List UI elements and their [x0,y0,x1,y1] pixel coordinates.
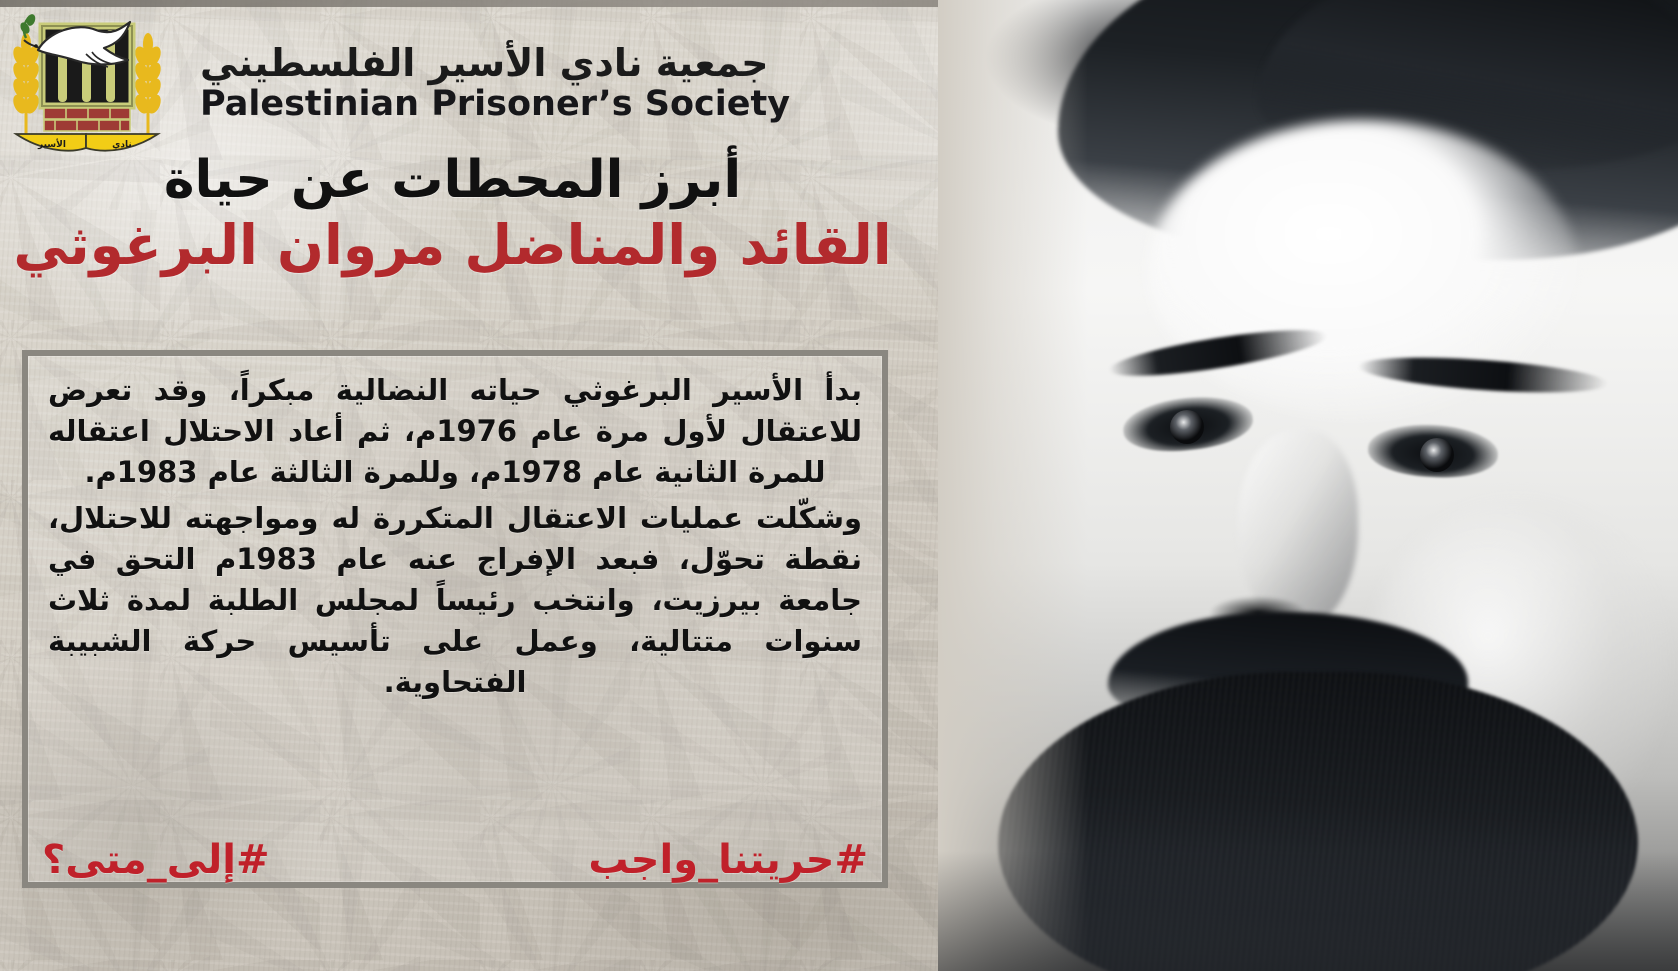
ribbon-banner: الأسير نادي [16,134,158,151]
prisoner-society-emblem-icon: الأسير نادي [0,8,172,158]
portrait-bottom-fade [938,851,1678,971]
portrait-pupil-left [1170,410,1204,444]
portrait-image [938,0,1678,971]
title-line-2: القائد والمناضل مروان البرغوثي [0,213,905,278]
hashtag-row: #حريتنا_واجب #إلى_متى؟ [28,840,882,880]
biography-text-inner: بدأ الأسير البرغوثي حياته النضالية مبكرا… [28,356,882,882]
wheat-stalk-left [133,33,164,136]
organization-names: جمعية نادي الأسير الفلسطيني Palestinian … [186,44,800,123]
organization-name-english: Palestinian Prisoner’s Society [200,86,800,123]
biography-paragraph-1: بدأ الأسير البرغوثي حياته النضالية مبكرا… [48,370,862,494]
poster-canvas: جمعية نادي الأسير الفلسطيني Palestinian … [0,0,1678,971]
title-line-1: أبرز المحطات عن حياة [0,150,905,211]
biography-text-frame: بدأ الأسير البرغوثي حياته النضالية مبكرا… [22,350,888,888]
ribbon-text-right: الأسير [37,138,66,150]
brick-wall-icon [44,108,130,131]
wheat-stalk-right [11,33,42,136]
hashtag-until-when[interactable]: #إلى_متى؟ [42,840,269,880]
ribbon-text-left: نادي [112,140,132,150]
portrait-pupil-right [1420,438,1454,472]
biography-paragraph-2: وشكّلت عمليات الاعتقال المتكررة له ومواج… [48,498,862,704]
organization-name-arabic: جمعية نادي الأسير الفلسطيني [200,44,800,84]
portrait-left-fade [938,0,1088,971]
page-title: أبرز المحطات عن حياة القائد والمناضل مرو… [0,150,905,278]
hashtag-freedom-is-a-duty[interactable]: #حريتنا_واجب [588,840,868,880]
header-bar: جمعية نادي الأسير الفلسطيني Palestinian … [0,8,820,158]
